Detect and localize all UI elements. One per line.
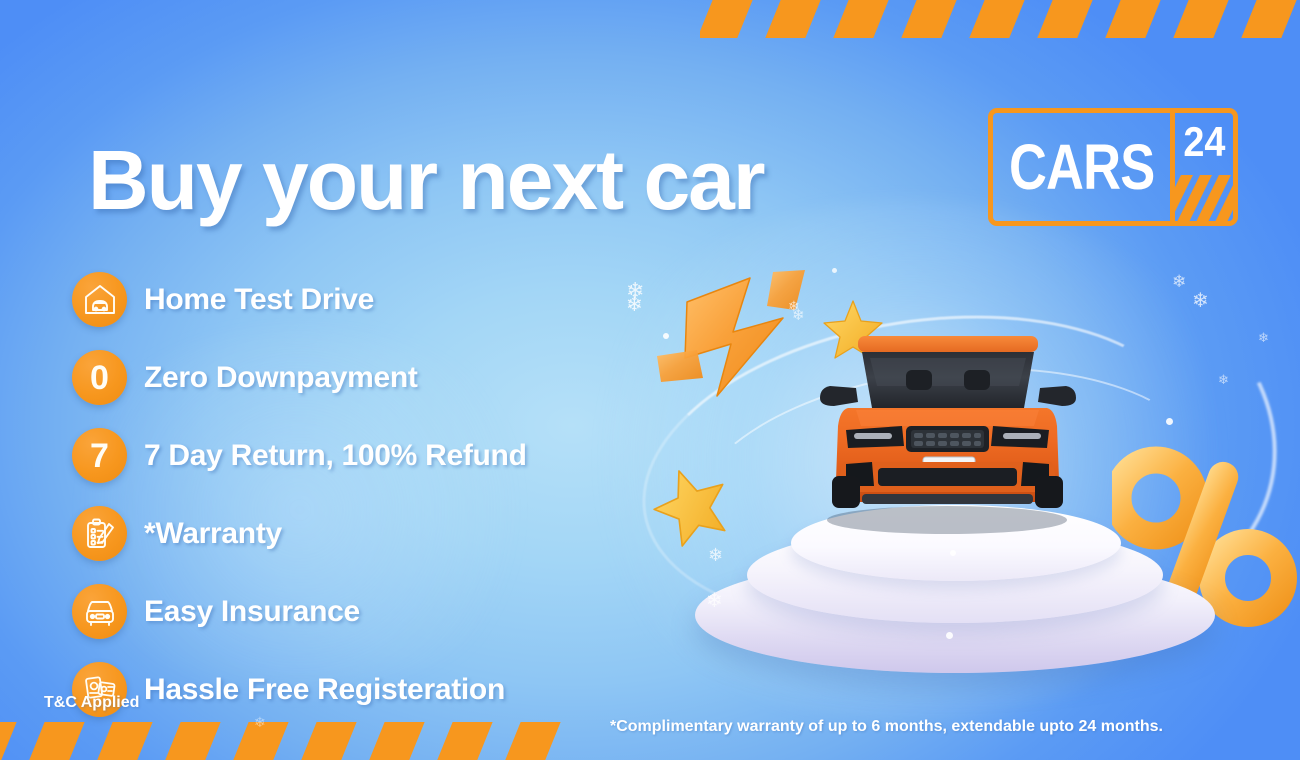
snowflake-icon: ❄ bbox=[626, 278, 644, 304]
terms-note: T&C Applied bbox=[44, 694, 139, 712]
feature-label: *Warranty bbox=[144, 517, 282, 551]
feature-label: Zero Downpayment bbox=[144, 361, 418, 395]
sparkle-dot bbox=[1166, 418, 1173, 425]
snowflake-icon: ❄ bbox=[1172, 272, 1186, 292]
warranty-disclaimer: *Complimentary warranty of up to 6 month… bbox=[610, 718, 1163, 736]
home-car-icon bbox=[72, 272, 127, 327]
seven-badge-icon: 7 bbox=[72, 428, 127, 483]
snowflake-icon: ❄ bbox=[708, 545, 723, 566]
logo-wordmark: CARS bbox=[1009, 135, 1154, 199]
cars24-logo: CARS 24 bbox=[988, 108, 1238, 226]
snowflake-icon: ❄ bbox=[1218, 372, 1229, 388]
snowflake-icon: ❄ bbox=[792, 306, 805, 324]
feature-label: 7 Day Return, 100% Refund bbox=[144, 439, 527, 473]
feature-row: 0Zero Downpayment bbox=[72, 350, 527, 405]
zero-badge-icon: 0 bbox=[72, 350, 127, 405]
feature-label: Easy Insurance bbox=[144, 595, 360, 629]
hazard-stripes-bottom bbox=[0, 722, 600, 760]
promo-banner: Buy your next car CARS 24 Home Test Driv… bbox=[0, 0, 1300, 760]
logo-stripes-icon bbox=[1175, 175, 1233, 221]
feature-row: Hassle Free Registeration bbox=[72, 662, 527, 717]
sparkle-dot bbox=[950, 550, 956, 556]
feature-row: *Warranty bbox=[72, 506, 527, 561]
sparkle-dot bbox=[832, 268, 837, 273]
page-title: Buy your next car bbox=[88, 132, 764, 229]
feature-label: Hassle Free Registeration bbox=[144, 673, 505, 707]
feature-label: Home Test Drive bbox=[144, 283, 374, 317]
sparkle-dot bbox=[946, 632, 953, 639]
snowflake-icon: ❄ bbox=[254, 714, 266, 731]
badge-number: 7 bbox=[90, 439, 109, 473]
badge-number: 0 bbox=[90, 361, 109, 395]
logo-number: 24 bbox=[1183, 121, 1225, 163]
orange-suv-image: CARS 24 bbox=[810, 330, 1085, 535]
feature-list: Home Test Drive0Zero Downpayment77 Day R… bbox=[72, 272, 527, 717]
car-front-icon bbox=[72, 584, 127, 639]
feature-row: Easy Insurance bbox=[72, 584, 527, 639]
feature-row: Home Test Drive bbox=[72, 272, 527, 327]
hazard-stripes-top bbox=[700, 0, 1300, 38]
feature-row: 77 Day Return, 100% Refund bbox=[72, 428, 527, 483]
logo-number-box: 24 bbox=[1175, 113, 1233, 221]
clipboard-pen-icon bbox=[72, 506, 127, 561]
snowflake-icon: ❄ bbox=[706, 588, 723, 613]
snowflake-icon: ❄ bbox=[1258, 330, 1269, 346]
logo-word-box: CARS bbox=[993, 113, 1175, 221]
sparkle-dot bbox=[663, 333, 669, 339]
snowflake-icon: ❄ bbox=[1192, 288, 1209, 313]
